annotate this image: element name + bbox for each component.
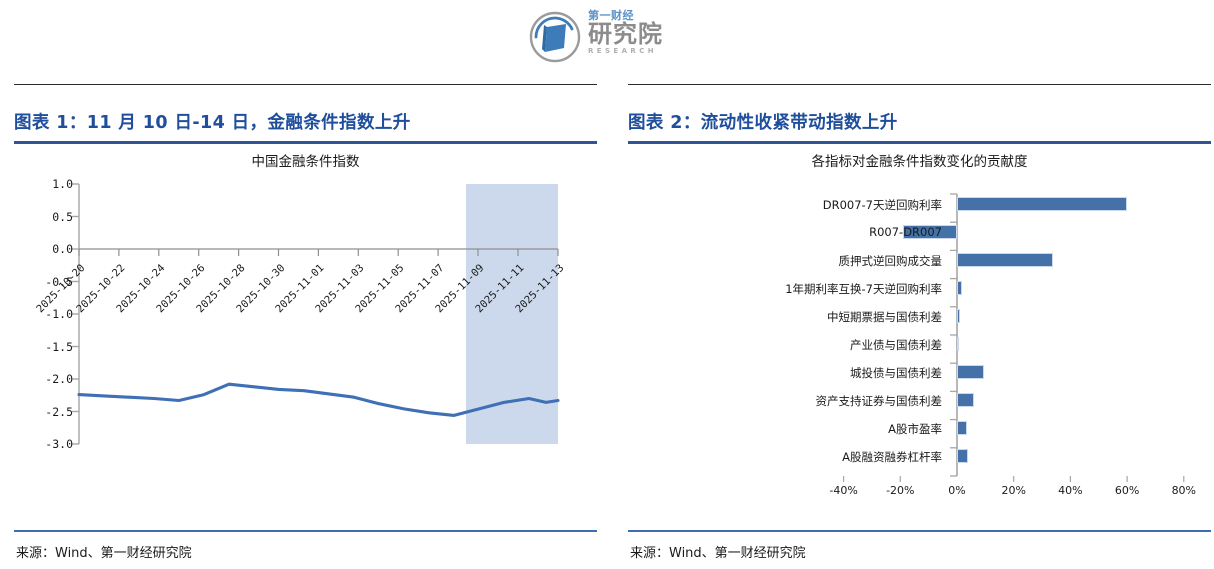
panel-bottom-divider bbox=[628, 530, 1211, 532]
x-tick-label: -20% bbox=[878, 484, 922, 497]
brand-name-large: 研究院 bbox=[588, 22, 693, 47]
china-financial-conditions-index-line-chart: 1.0 0.5 0.0 -0.5 -1.0 -1.5 -2.0 -2.5 -3.… bbox=[14, 176, 597, 516]
x-tick-label: 0% bbox=[935, 484, 979, 497]
bar-lgfv-bond-spread bbox=[957, 365, 984, 379]
bar-a-share-pe-ratio bbox=[957, 421, 967, 435]
bar-1y-irs-vs-7d-reverse-repo bbox=[957, 281, 962, 295]
y-tick-label: -2.0 bbox=[29, 372, 73, 386]
source-note-right: 来源：Wind、第一财经研究院 bbox=[630, 542, 806, 561]
y-tick-label: -2.5 bbox=[29, 405, 73, 419]
bar-category-label: DR007-7天逆回购利率 bbox=[707, 197, 942, 213]
bar-category-label: R007-DR007 bbox=[707, 225, 942, 239]
y-tick-label: -1.5 bbox=[29, 340, 73, 354]
bar-pledged-reverse-repo-volume bbox=[957, 253, 1053, 267]
bar-category-label: 中短期票据与国债利差 bbox=[707, 309, 942, 325]
bar-dr007-vs-7d-reverse-repo bbox=[957, 197, 1127, 211]
x-tick-label: 80% bbox=[1162, 484, 1206, 497]
contribution-to-fci-change-bar-chart: DR007-7天逆回购利率 R007-DR007 质押式逆回购成交量 1年期利率… bbox=[628, 176, 1211, 516]
x-tick-label: 40% bbox=[1048, 484, 1092, 497]
y-tick-label: 0.0 bbox=[29, 242, 73, 256]
bar-category-label: A股融资融券杠杆率 bbox=[707, 449, 942, 465]
bar-a-share-margin-leverage bbox=[957, 449, 968, 463]
bar-category-label: 1年期利率互换-7天逆回购利率 bbox=[707, 281, 942, 297]
y-tick-label: 1.0 bbox=[29, 177, 73, 191]
figure-1-title: 图表 1：11 月 10 日-14 日，金融条件指数上升 bbox=[14, 109, 597, 134]
bar-category-label: 资产支持证券与国债利差 bbox=[707, 393, 942, 409]
y-tick-label: -3.0 bbox=[29, 437, 73, 451]
brand-logo: 第一财经 研究院 RESEARCH bbox=[528, 8, 693, 66]
bar-abs-spread bbox=[957, 393, 974, 407]
figure-1-title-underline bbox=[14, 141, 597, 144]
bar-category-label: 城投债与国债利差 bbox=[707, 365, 942, 381]
x-tick-label: 20% bbox=[992, 484, 1036, 497]
bar-category-label: A股市盈率 bbox=[707, 421, 942, 437]
brand-logo-text: 第一财经 研究院 RESEARCH bbox=[588, 10, 693, 64]
brand-name-research: RESEARCH bbox=[588, 47, 693, 56]
bar-category-label: 质押式逆回购成交量 bbox=[707, 253, 942, 269]
x-tick-label: 60% bbox=[1105, 484, 1149, 497]
header-logo-bar: 第一财经 研究院 RESEARCH bbox=[0, 0, 1214, 74]
panel-top-divider bbox=[628, 84, 1211, 85]
first-financial-research-logo-icon bbox=[528, 10, 582, 64]
bar-corporate-bond-spread bbox=[957, 337, 959, 351]
figure-2-title: 图表 2：流动性收紧带动指数上升 bbox=[628, 109, 1211, 134]
panel-top-divider bbox=[14, 84, 597, 85]
line-chart-caption: 中国金融条件指数 bbox=[14, 150, 597, 170]
figure-2-title-underline bbox=[628, 141, 1211, 144]
y-tick-label: 0.5 bbox=[29, 210, 73, 224]
x-tick-label: -40% bbox=[822, 484, 866, 497]
figure-panel-right: 图表 2：流动性收紧带动指数上升 各指标对金融条件指数变化的贡献度 bbox=[628, 84, 1211, 569]
source-note-left: 来源：Wind、第一财经研究院 bbox=[16, 542, 192, 561]
index-series-line bbox=[79, 384, 558, 415]
bar-chart-caption: 各指标对金融条件指数变化的贡献度 bbox=[628, 150, 1211, 170]
panel-bottom-divider bbox=[14, 530, 597, 532]
figure-panel-left: 图表 1：11 月 10 日-14 日，金融条件指数上升 中国金融条件指数 bbox=[14, 84, 597, 569]
bar-medium-short-note-spread bbox=[957, 309, 960, 323]
bar-category-label: 产业债与国债利差 bbox=[707, 337, 942, 353]
